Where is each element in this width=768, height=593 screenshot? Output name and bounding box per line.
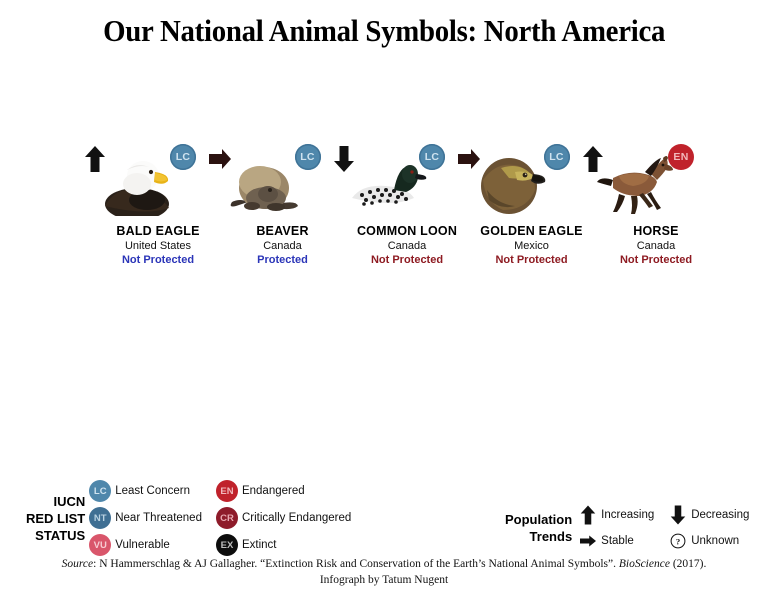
arrow-up-icon xyxy=(580,505,596,525)
legend-label: Unknown xyxy=(691,535,739,547)
iucn-badge-nt: NT xyxy=(89,507,111,529)
animal-card-common-loon[interactable]: LC C xyxy=(327,138,449,266)
legend-item-unknown: ? Unknown xyxy=(670,531,749,551)
bald-eagle-photo xyxy=(97,150,181,216)
iucn-badge-lc: LC xyxy=(89,480,111,502)
legend-item-stable: Stable xyxy=(580,531,654,551)
animal-artwork: LC xyxy=(327,138,449,218)
infograph-credit: Infograph by Tatum Nugent xyxy=(0,574,768,586)
animal-country: Canada xyxy=(576,240,736,252)
legend-label: Vulnerable xyxy=(115,539,170,551)
source-text: : N Hammerschlag & AJ Gallagher. “Extinc… xyxy=(93,558,619,570)
legend-item-decreasing: Decreasing xyxy=(670,505,749,525)
arrow-right-icon xyxy=(580,531,596,551)
beaver-photo xyxy=(222,150,306,216)
population-legend-title-line-1: Population xyxy=(505,511,572,528)
animal-name: HORSE xyxy=(576,224,736,238)
iucn-badge-en: EN xyxy=(216,480,238,502)
source-citation: Source: N Hammerschlag & AJ Gallagher. “… xyxy=(0,558,768,570)
question-circle-icon: ? xyxy=(670,531,686,551)
animal-card-golden-eagle[interactable]: LC GOLDEN EAGLE Mexico Not Protected xyxy=(452,138,574,266)
iucn-badge-cr: CR xyxy=(216,507,238,529)
svg-text:?: ? xyxy=(676,536,680,546)
animal-artwork: LC xyxy=(78,138,200,218)
common-loon-photo xyxy=(346,150,430,216)
source-label: Source xyxy=(62,558,94,570)
iucn-badge-ex: EX xyxy=(216,534,238,556)
animal-card-horse[interactable]: EN HORSE Canada Not xyxy=(576,138,698,266)
population-trends-legend: Population Trends Increasing Decreasing … xyxy=(505,505,749,551)
source-year: (2017). xyxy=(670,558,706,570)
population-legend-title-line-2: Trends xyxy=(505,528,572,545)
animal-card-beaver[interactable]: LC BEAVER Canada Protected xyxy=(203,138,325,266)
source-journal: BioScience xyxy=(619,558,670,570)
title-bar: Our National Animal Symbols: North Ameri… xyxy=(0,0,768,62)
population-legend-title: Population Trends xyxy=(505,511,572,545)
iucn-legend-title-line-2: RED LIST xyxy=(26,510,85,527)
legend-item-vulnerable: VU Vulnerable xyxy=(89,534,202,556)
animal-artwork: LC xyxy=(203,138,325,218)
animal-card-row: LC BALD EAGLE United States Not Protecte… xyxy=(78,138,698,266)
legend-item-least-concern: LC Least Concern xyxy=(89,480,202,502)
iucn-legend-items: LC Least Concern EN Endangered NT Near T… xyxy=(89,480,351,556)
legend-item-critically-endangered: CR Critically Endangered xyxy=(216,507,351,529)
legend-item-endangered: EN Endangered xyxy=(216,480,351,502)
horse-photo xyxy=(595,150,679,216)
legend-item-increasing: Increasing xyxy=(580,505,654,525)
iucn-red-list-legend: IUCN RED LIST STATUS LC Least Concern EN… xyxy=(26,480,351,556)
animal-artwork: LC xyxy=(452,138,574,218)
legend-label: Extinct xyxy=(242,539,277,551)
legend-item-extinct: EX Extinct xyxy=(216,534,351,556)
legend-item-near-threatened: NT Near Threatened xyxy=(89,507,202,529)
legend-label: Stable xyxy=(601,535,634,547)
iucn-legend-title-line-3: STATUS xyxy=(26,527,85,544)
iucn-badge-vu: VU xyxy=(89,534,111,556)
legend-label: Least Concern xyxy=(115,485,190,497)
golden-eagle-photo xyxy=(471,150,555,216)
animal-artwork: EN xyxy=(576,138,698,218)
legend-label: Increasing xyxy=(601,509,654,521)
iucn-legend-title-line-1: IUCN xyxy=(26,493,85,510)
animal-protection-status: Not Protected xyxy=(576,254,736,266)
population-legend-items: Increasing Decreasing Stable ? Unknown xyxy=(580,505,749,551)
legend-label: Endangered xyxy=(242,485,305,497)
animal-card-bald-eagle[interactable]: LC BALD EAGLE United States Not Protecte… xyxy=(78,138,200,266)
legend-label: Near Threatened xyxy=(115,512,202,524)
legend-label: Decreasing xyxy=(691,509,749,521)
arrow-down-icon xyxy=(670,505,686,525)
iucn-legend-title: IUCN RED LIST STATUS xyxy=(26,493,85,544)
legend-label: Critically Endangered xyxy=(242,512,351,524)
page-title: Our National Animal Symbols: North Ameri… xyxy=(103,13,665,49)
